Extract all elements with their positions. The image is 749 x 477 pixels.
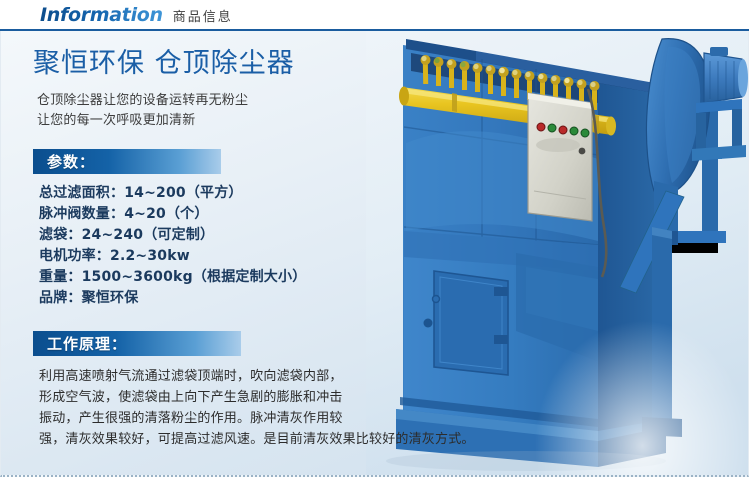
text-column: 聚恒环保 仓顶除尘器 仓顶除尘器让您的设备运转再无粉尘 让您的每一次呼吸更加清新…: [33, 31, 433, 450]
param-weight: 重量：1500~3600kg（根据定制大小）: [39, 267, 433, 288]
subtitle-line-1: 仓顶除尘器让您的设备运转再无粉尘: [37, 91, 433, 111]
principle-line-1: 利用高速喷射气流通过滤袋顶端时，吹向滤袋内部，: [39, 366, 459, 387]
principle-line-3: 振动，产生很强的清落粉尘的作用。脉冲清灰作用较: [39, 408, 459, 429]
page-title: 聚恒环保 仓顶除尘器: [33, 48, 433, 79]
params-list: 总过滤面积：14~200（平方） 脉冲阀数量：4~20（个） 滤袋：24~240…: [39, 183, 433, 309]
param-total-filter-area: 总过滤面积：14~200（平方）: [39, 183, 433, 204]
section-header-principle: 工作原理：: [33, 331, 241, 356]
param-pulse-valve-count: 脉冲阀数量：4~20（个）: [39, 204, 433, 225]
param-brand: 品牌：聚恒环保: [39, 288, 433, 309]
section-header-principle-label: 工作原理：: [47, 333, 127, 354]
header-title-en: Information: [40, 4, 163, 26]
subtitle-line-2: 让您的每一次呼吸更加清新: [37, 111, 433, 131]
product-info-page: Information 商品信息: [0, 0, 749, 477]
section-header-params: 参数：: [33, 149, 221, 174]
param-filter-bags: 滤袋：24~240（可定制）: [39, 225, 433, 246]
header-title-cn: 商品信息: [173, 6, 233, 25]
param-motor-power: 电机功率：2.2~30kw: [39, 246, 433, 267]
principle-line-4: 强，清灰效果较好，可提高过滤风速。是目前清灰效果比较好的清灰方式。: [39, 429, 459, 450]
subtitle-block: 仓顶除尘器让您的设备运转再无粉尘 让您的每一次呼吸更加清新: [37, 91, 433, 131]
principle-body: 利用高速喷射气流通过滤袋顶端时，吹向滤袋内部， 形成空气波，使滤袋由上向下产生急…: [39, 366, 459, 450]
principle-line-2: 形成空气波，使滤袋由上向下产生急剧的膨胀和冲击: [39, 387, 459, 408]
page-header: Information 商品信息: [0, 0, 749, 30]
section-header-params-label: 参数：: [47, 151, 95, 172]
content-panel: 聚恒环保 仓顶除尘器 仓顶除尘器让您的设备运转再无粉尘 让您的每一次呼吸更加清新…: [0, 31, 749, 477]
